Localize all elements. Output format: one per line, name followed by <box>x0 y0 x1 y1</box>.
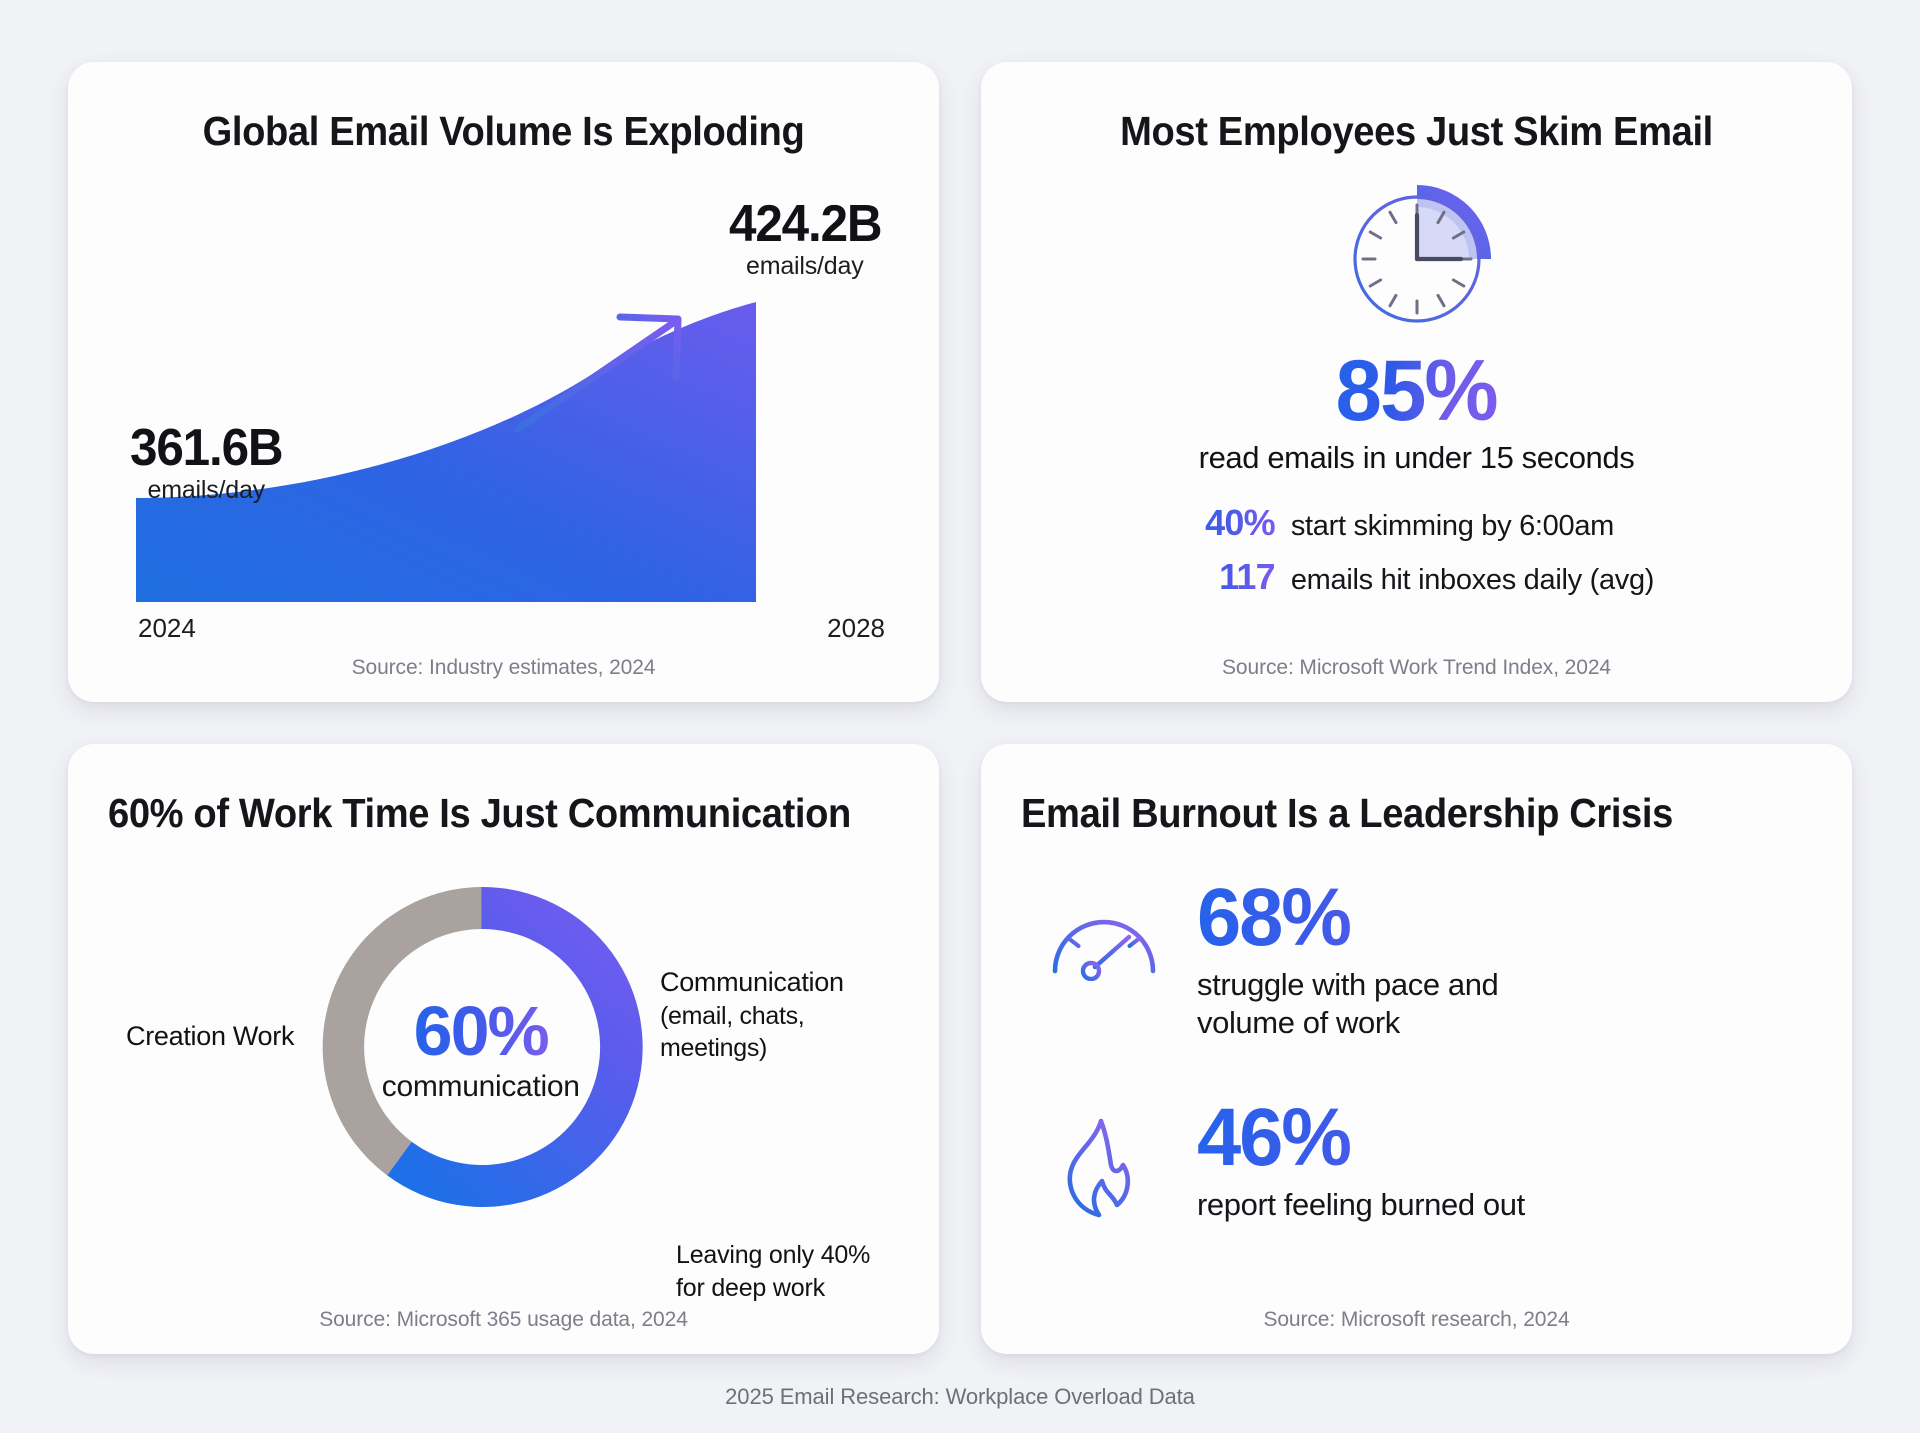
burnout-stat-caption-line1: report feeling burned out <box>1197 1186 1525 1224</box>
email-volume-chart: 424.2B emails/day 361.6B emails/day 2024… <box>108 159 899 680</box>
donut-label-communication-main: Communication <box>660 965 899 1000</box>
clock-icon-holder <box>1333 175 1501 348</box>
page-footer: 2025 Email Research: Workplace Overload … <box>725 1384 1195 1410</box>
donut-label-deep-work: Leaving only 40% for deep work <box>676 1239 870 1304</box>
start-unit: emails/day <box>126 476 286 505</box>
donut-label-creation-work: Creation Work <box>126 1021 294 1052</box>
burnout-body: 68% struggle with pace and volume of wor… <box>1021 837 1812 1332</box>
source-burnout: Source: Microsoft research, 2024 <box>981 1308 1852 1332</box>
card-title-skim-email: Most Employees Just Skim Email <box>1049 108 1785 155</box>
clock-icon <box>1333 175 1501 343</box>
card-skim-email: Most Employees Just Skim Email <box>981 62 1852 702</box>
start-value-label: 361.6B emails/day <box>126 421 286 505</box>
axis-label-start: 2024 <box>138 613 196 644</box>
mini-stat-value: 40% <box>1179 502 1275 544</box>
card-work-time: 60% of Work Time Is Just Communication C… <box>68 744 939 1354</box>
donut-chart-holder: 60% communication <box>291 857 671 1242</box>
donut-label-deep-work-line2: for deep work <box>676 1272 870 1305</box>
axis-label-end: 2028 <box>827 613 885 644</box>
mini-stat-text: start skimming by 6:00am <box>1291 510 1614 543</box>
donut-label-deep-work-line1: Leaving only 40% <box>676 1239 870 1272</box>
skim-email-body: 85% read emails in under 15 seconds 40% … <box>1021 155 1812 680</box>
flame-icon-holder <box>1045 1099 1163 1228</box>
end-unit: emails/day <box>725 252 885 281</box>
end-value-label: 424.2B emails/day <box>725 197 885 281</box>
infographic-page: Global Email Volume Is Exploding <box>0 0 1920 1433</box>
end-value: 424.2B <box>729 197 881 251</box>
mini-stat-row: 117 emails hit inboxes daily (avg) <box>1179 556 1654 598</box>
mini-stat-value: 117 <box>1179 556 1275 598</box>
mini-stat-row: 40% start skimming by 6:00am <box>1179 502 1654 544</box>
burnout-stat-row: 46% report feeling burned out <box>1045 1099 1806 1228</box>
skim-mini-stats: 40% start skimming by 6:00am 117 emails … <box>1179 502 1654 598</box>
source-email-volume: Source: Industry estimates, 2024 <box>68 656 939 680</box>
burnout-stat-caption-line1: struggle with pace and <box>1197 966 1498 1004</box>
burnout-stat-caption: report feeling burned out <box>1197 1186 1525 1224</box>
mini-stat-text: emails hit inboxes daily (avg) <box>1291 564 1654 597</box>
burnout-stat-caption-line2: volume of work <box>1197 1004 1498 1042</box>
burnout-stat-value: 46% <box>1197 1099 1515 1178</box>
skim-headline-caption: read emails in under 15 seconds <box>1199 440 1635 476</box>
card-email-volume: Global Email Volume Is Exploding <box>68 62 939 702</box>
burnout-stat-text-block: 68% struggle with pace and volume of wor… <box>1197 879 1498 1041</box>
donut-chart <box>291 857 671 1237</box>
work-time-body: Creation Work Communication (email, chat… <box>108 843 899 1332</box>
gauge-icon-holder <box>1045 879 1163 986</box>
source-skim-email: Source: Microsoft Work Trend Index, 2024 <box>981 656 1852 680</box>
donut-label-communication-sub: (email, chats, meetings) <box>660 1000 899 1064</box>
card-burnout: Email Burnout Is a Leadership Crisis <box>981 744 1852 1354</box>
card-title-work-time: 60% of Work Time Is Just Communication <box>108 790 844 837</box>
start-value: 361.6B <box>130 421 282 475</box>
x-axis-labels: 2024 2028 <box>138 613 885 644</box>
gauge-icon <box>1045 895 1163 981</box>
source-work-time: Source: Microsoft 365 usage data, 2024 <box>68 1308 939 1332</box>
flame-icon <box>1045 1115 1163 1223</box>
card-title-email-volume: Global Email Volume Is Exploding <box>136 108 872 155</box>
burnout-stat-text-block: 46% report feeling burned out <box>1197 1099 1525 1224</box>
skim-headline-value: 85% <box>1336 348 1497 434</box>
card-title-burnout: Email Burnout Is a Leadership Crisis <box>1021 790 1757 837</box>
donut-label-communication: Communication (email, chats, meetings) <box>660 965 899 1064</box>
trend-arrow-icon <box>508 309 698 439</box>
burnout-stat-row: 68% struggle with pace and volume of wor… <box>1045 879 1806 1041</box>
burnout-stat-value: 68% <box>1197 879 1489 958</box>
cards-grid: Global Email Volume Is Exploding <box>68 62 1852 1354</box>
burnout-stat-caption: struggle with pace and volume of work <box>1197 966 1498 1042</box>
